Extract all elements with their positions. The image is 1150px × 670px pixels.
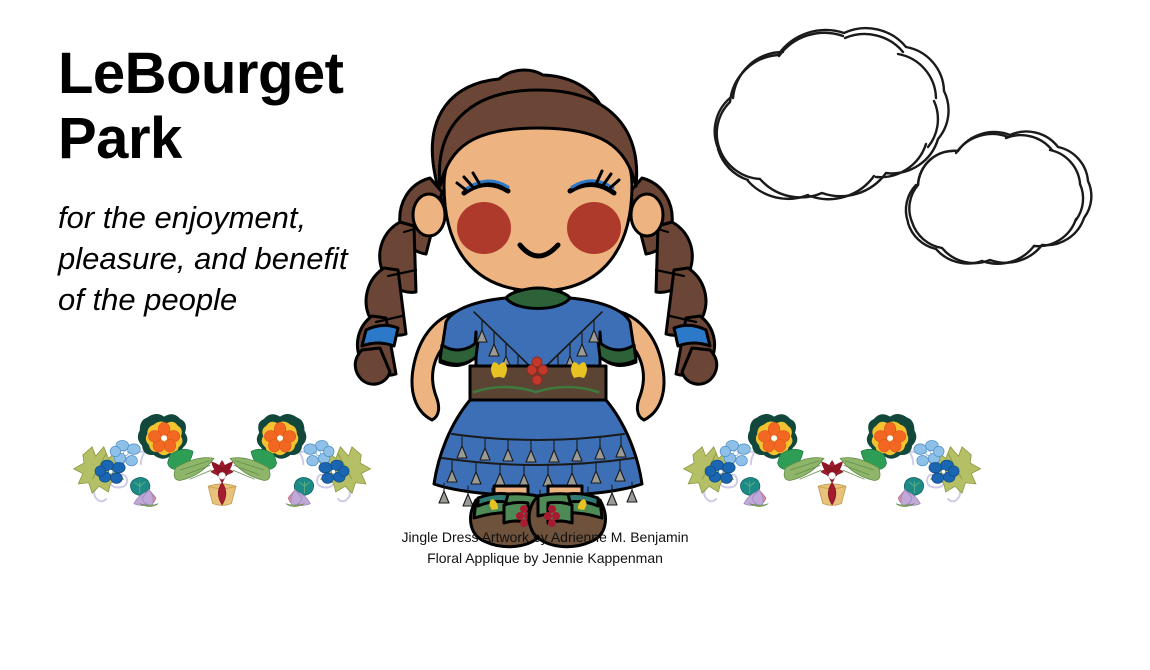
- poster-canvas: LeBourget Park for the enjoyment, pleasu…: [0, 0, 1150, 670]
- credit-line-artwork: Jingle Dress Artwork by Adrienne M. Benj…: [335, 527, 755, 548]
- page-tagline: for the enjoyment, pleasure, and benefit…: [58, 198, 403, 321]
- floral-applique-right: [684, 414, 981, 507]
- floral-applique-left: [74, 414, 371, 507]
- page-title: LeBourget Park: [58, 42, 403, 172]
- text-block: LeBourget Park for the enjoyment, pleasu…: [58, 42, 403, 321]
- credits-block: Jingle Dress Artwork by Adrienne M. Benj…: [335, 527, 755, 569]
- credit-line-applique: Floral Applique by Jennie Kappenman: [335, 548, 755, 569]
